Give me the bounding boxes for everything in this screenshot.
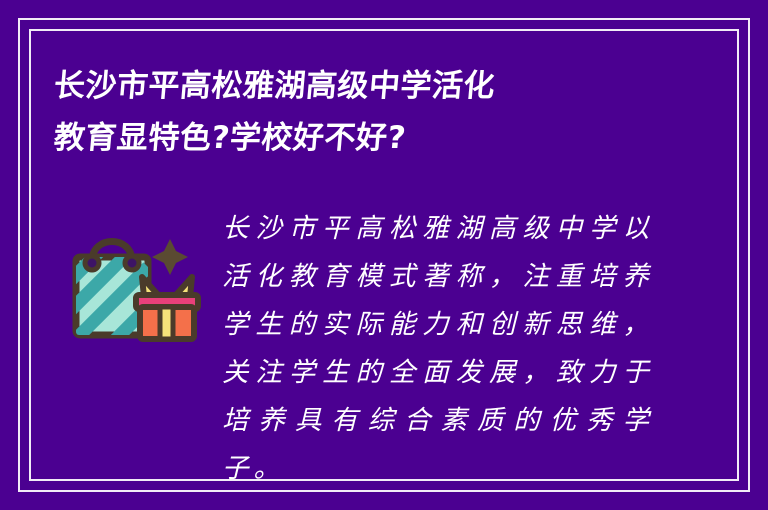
shopping-bag-and-gift-illustration	[54, 205, 204, 347]
body-paragraph: 长沙市平高松雅湖高级中学以活化教育模式著称，注重培养学生的实际能力和创新思维，关…	[204, 205, 654, 493]
gift-box	[136, 295, 198, 339]
sparkle-icon	[152, 239, 188, 275]
page-title: 长沙市平高松雅湖高级中学活化 教育显特色?学校好不好?	[54, 60, 674, 164]
content-row: 长沙市平高松雅湖高级中学以活化教育模式著称，注重培养学生的实际能力和创新思维，关…	[54, 205, 714, 493]
title-line-2: 教育显特色?学校好不好?	[52, 112, 677, 164]
poster-canvas: 长沙市平高松雅湖高级中学活化 教育显特色?学校好不好?	[0, 0, 768, 510]
title-line-1: 长沙市平高松雅湖高级中学活化	[52, 60, 677, 112]
